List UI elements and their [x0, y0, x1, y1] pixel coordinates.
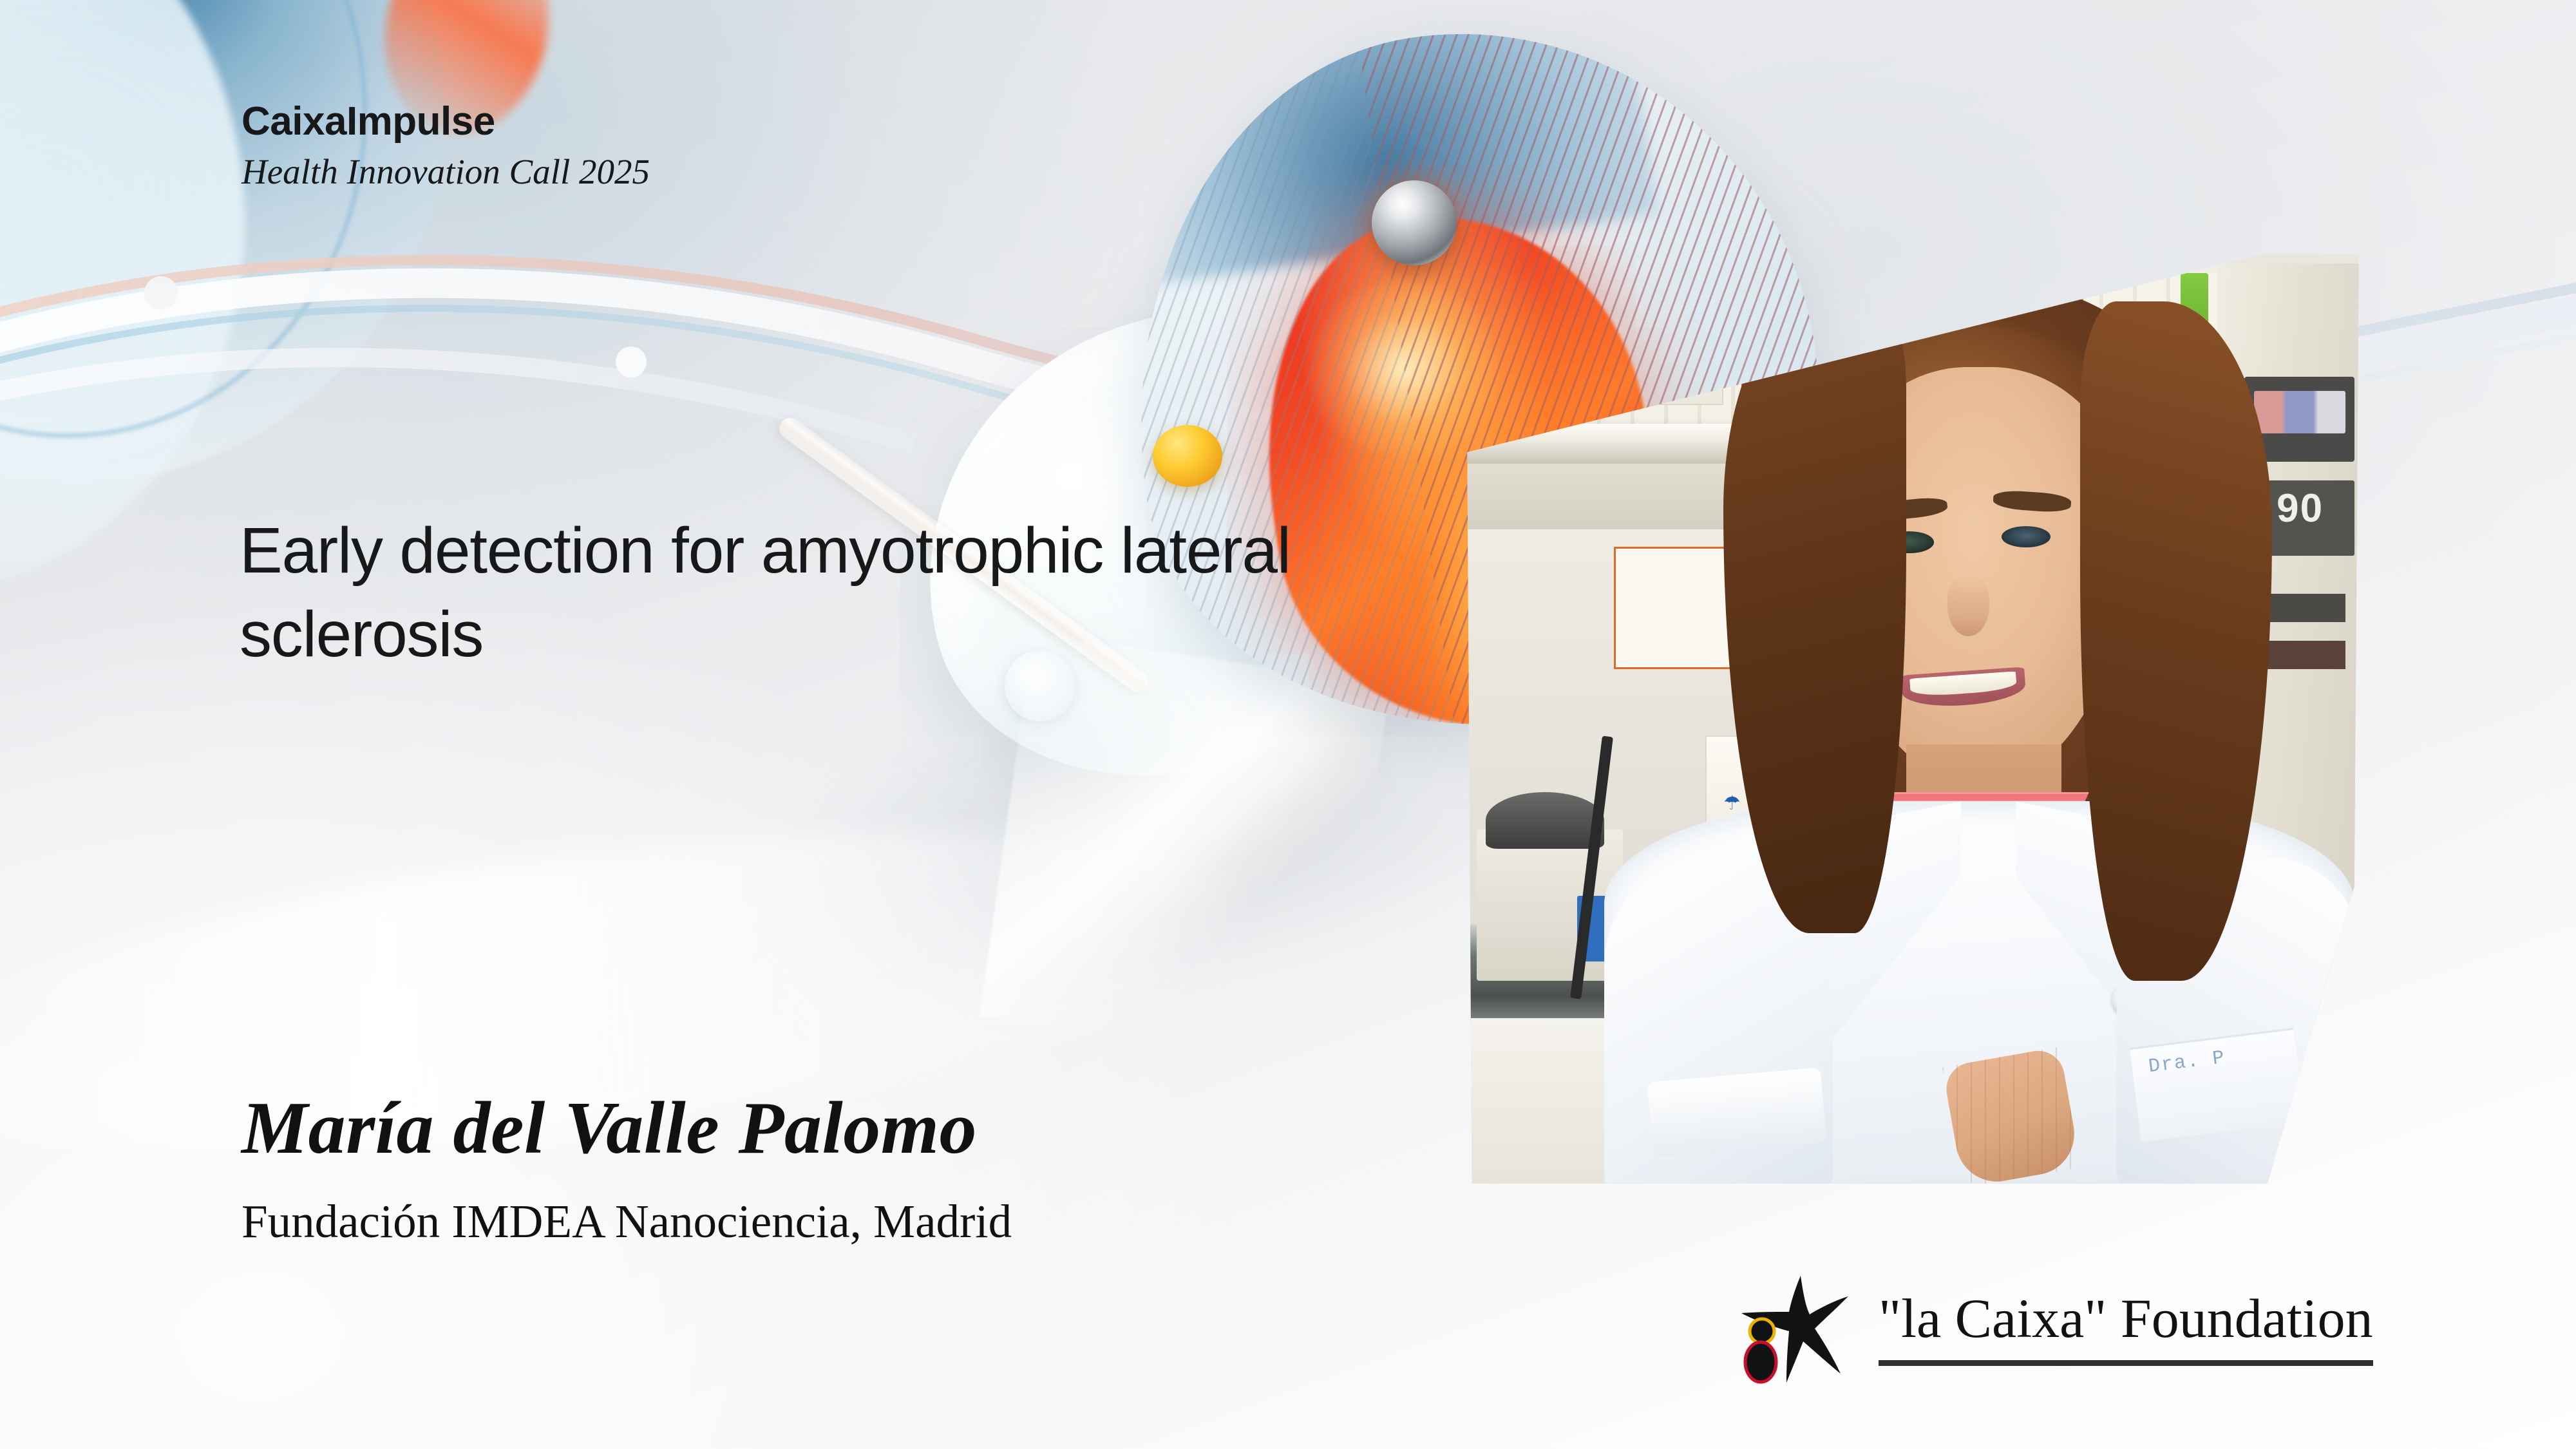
supply-box-label: 1x100 HENKE — [1522, 306, 1640, 326]
researcher-affiliation: Fundación IMDEA Nanociencia, Madrid — [241, 1196, 1012, 1247]
sponsor-logo-text-wrap: "la Caixa" Foundation — [1879, 1291, 2373, 1366]
equipment-indicator-lights — [2254, 391, 2345, 433]
glass-disc-rim-graphic — [0, 0, 367, 438]
device-neck-highlight-graphic — [980, 634, 1390, 1066]
device-cast-shadow — [739, 615, 1586, 1059]
programme-subtitle: Health Innovation Call 2025 — [241, 153, 650, 192]
lab-supply-box — [1486, 283, 1723, 405]
lab-coat-cuff-left — [1647, 1068, 1827, 1158]
lab-instrument-top — [1486, 792, 1605, 849]
sponsor-logo-rule — [1879, 1360, 2373, 1366]
la-caixa-star-icon — [1739, 1272, 1851, 1385]
presentation-slide: CaixaImpulse Health Innovation Call 2025… — [0, 0, 2576, 1449]
researcher-portrait-photo: 1x100 HENKE ☂ ⚱ ⇅ 90 — [1449, 245, 2363, 1188]
programme-branding: CaixaImpulse Health Innovation Call 2025 — [241, 100, 650, 192]
sponsor-logo: "la Caixa" Foundation — [1739, 1272, 2373, 1385]
project-title: Early detection for amyotrophic lateral … — [240, 509, 1450, 676]
programme-name: CaixaImpulse — [241, 100, 650, 144]
gel-highlight — [1297, 266, 1511, 471]
yellow-sphere-graphic — [1153, 425, 1222, 487]
researcher-name: María del Valle Palomo — [241, 1088, 1012, 1169]
equipment-display-value: 90 — [2277, 486, 2324, 531]
shell-blue-shade — [1088, 0, 1658, 294]
glass-disc-inner-graphic — [0, 0, 245, 592]
researcher-eye-right — [2002, 526, 2051, 548]
teal-glass-disc-graphic — [0, 0, 444, 483]
researcher-block: María del Valle Palomo Fundación IMDEA N… — [241, 1088, 1012, 1248]
chrome-sphere-graphic — [1372, 180, 1457, 265]
lab-coat-pocket — [2130, 1028, 2305, 1142]
researcher-hand — [1942, 1046, 2081, 1188]
researcher-nose — [1947, 575, 1989, 636]
sponsor-name: "la Caixa" Foundation — [1879, 1291, 2373, 1346]
supply-box-blue-bar — [1660, 292, 1769, 339]
